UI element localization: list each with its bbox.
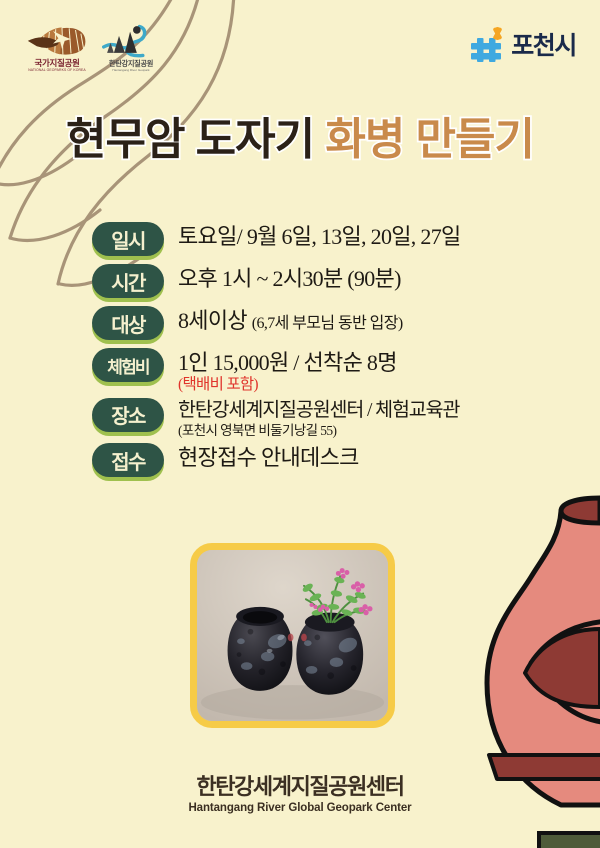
national-geopark-logo-kr: 국가지질공원	[26, 59, 88, 68]
title-secondary: 화병 만들기	[325, 115, 534, 164]
footer: 한탄강세계지질공원센터 Hantangang River Global Geop…	[0, 775, 600, 814]
national-geopark-logo-en: NATIONAL GEOPARKS OF KOREA	[28, 69, 87, 72]
hantangang-geopark-logo-icon	[102, 24, 153, 58]
value-audience-note: (6,7세 부모님 동반 입장)	[252, 315, 403, 332]
basalt-ceramic-vases-photo	[197, 550, 388, 721]
row-text: 오후 1시 ~ 2시30분 (90분)	[178, 264, 552, 293]
pill-wrap: 일시	[92, 222, 164, 256]
info-row-audience: 대상 8세이상 (6,7세 부모님 동반 입장)	[92, 306, 552, 344]
poster-root: 국가지질공원 NATIONAL GEOPARKS OF KOREA 한탄강지질공…	[0, 0, 600, 848]
value-venue-address: (포천시 영북면 비둘기낭길 55)	[178, 423, 552, 439]
pill-wrap: 체험비	[92, 348, 164, 382]
info-row-date: 일시 토요일/ 9월 6일, 13일, 20일, 27일	[92, 222, 552, 260]
label-badge-reception: 접수	[92, 443, 164, 477]
pill-wrap: 장소	[92, 398, 164, 432]
label-badge-fee: 체험비	[92, 348, 164, 382]
hantangang-geopark-logo-en: Hantangang River Geopark	[105, 69, 157, 72]
value-reception: 현장접수 안내데스크	[178, 444, 552, 472]
footer-en: Hantangang River Global Geopark Center	[0, 802, 600, 814]
title-primary: 현무암 도자기	[66, 115, 314, 164]
value-audience: 8세이상 (6,7세 부모님 동반 입장)	[178, 307, 552, 335]
label-badge-audience: 대상	[92, 306, 164, 340]
value-audience-main: 8세이상	[178, 308, 247, 333]
pocheon-city-logo: 포천시	[469, 26, 576, 64]
pill-wrap: 대상	[92, 306, 164, 340]
info-row-fee: 체험비 1인 15,000원 / 선착순 8명 (택배비 포함)	[92, 348, 552, 394]
value-fee-note: (택배비 포함)	[178, 376, 552, 394]
partner-logos: 국가지질공원 NATIONAL GEOPARKS OF KOREA 한탄강지질공…	[26, 22, 160, 73]
value-fee: 1인 15,000원 / 선착순 8명	[178, 349, 552, 377]
info-row-venue: 장소 한탄강세계지질공원센터 / 체험교육관 (포천시 영북면 비둘기낭길 55…	[92, 398, 552, 439]
row-text: 1인 15,000원 / 선착순 8명 (택배비 포함)	[178, 348, 552, 394]
row-text: 현장접수 안내데스크	[178, 443, 552, 472]
value-time: 오후 1시 ~ 2시30분 (90분)	[178, 265, 552, 293]
row-text: 한탄강세계지질공원센터 / 체험교육관 (포천시 영북면 비둘기낭길 55)	[178, 398, 552, 439]
pill-wrap: 시간	[92, 264, 164, 298]
hantangang-geopark-logo: 한탄강지질공원 Hantangang River Geopark	[102, 24, 160, 72]
footer-kr: 한탄강세계지질공원센터	[0, 775, 600, 799]
value-venue: 한탄강세계지질공원센터 / 체험교육관	[178, 399, 552, 424]
value-date: 토요일/ 9월 6일, 13일, 20일, 27일	[178, 223, 552, 251]
pocheon-hash-icon	[469, 26, 509, 64]
pill-wrap: 접수	[92, 443, 164, 477]
row-text: 8세이상 (6,7세 부모님 동반 입장)	[178, 306, 552, 335]
page-title: 현무암 도자기 화병 만들기	[0, 112, 600, 167]
product-photo	[190, 543, 395, 728]
national-geopark-logo: 국가지질공원 NATIONAL GEOPARKS OF KOREA	[26, 22, 88, 73]
label-badge-venue: 장소	[92, 398, 164, 432]
label-badge-date: 일시	[92, 222, 164, 256]
hantangang-geopark-logo-kr: 한탄강지질공원	[102, 60, 160, 67]
pocheon-city-label: 포천시	[511, 34, 576, 59]
info-list: 일시 토요일/ 9월 6일, 13일, 20일, 27일 시간 오후 1시 ~ …	[92, 222, 552, 485]
national-geopark-logo-icon	[26, 22, 89, 58]
info-row-time: 시간 오후 1시 ~ 2시30분 (90분)	[92, 264, 552, 302]
label-badge-time: 시간	[92, 264, 164, 298]
row-text: 토요일/ 9월 6일, 13일, 20일, 27일	[178, 222, 552, 251]
info-row-reception: 접수 현장접수 안내데스크	[92, 443, 552, 481]
asterisk-icon	[493, 27, 503, 40]
